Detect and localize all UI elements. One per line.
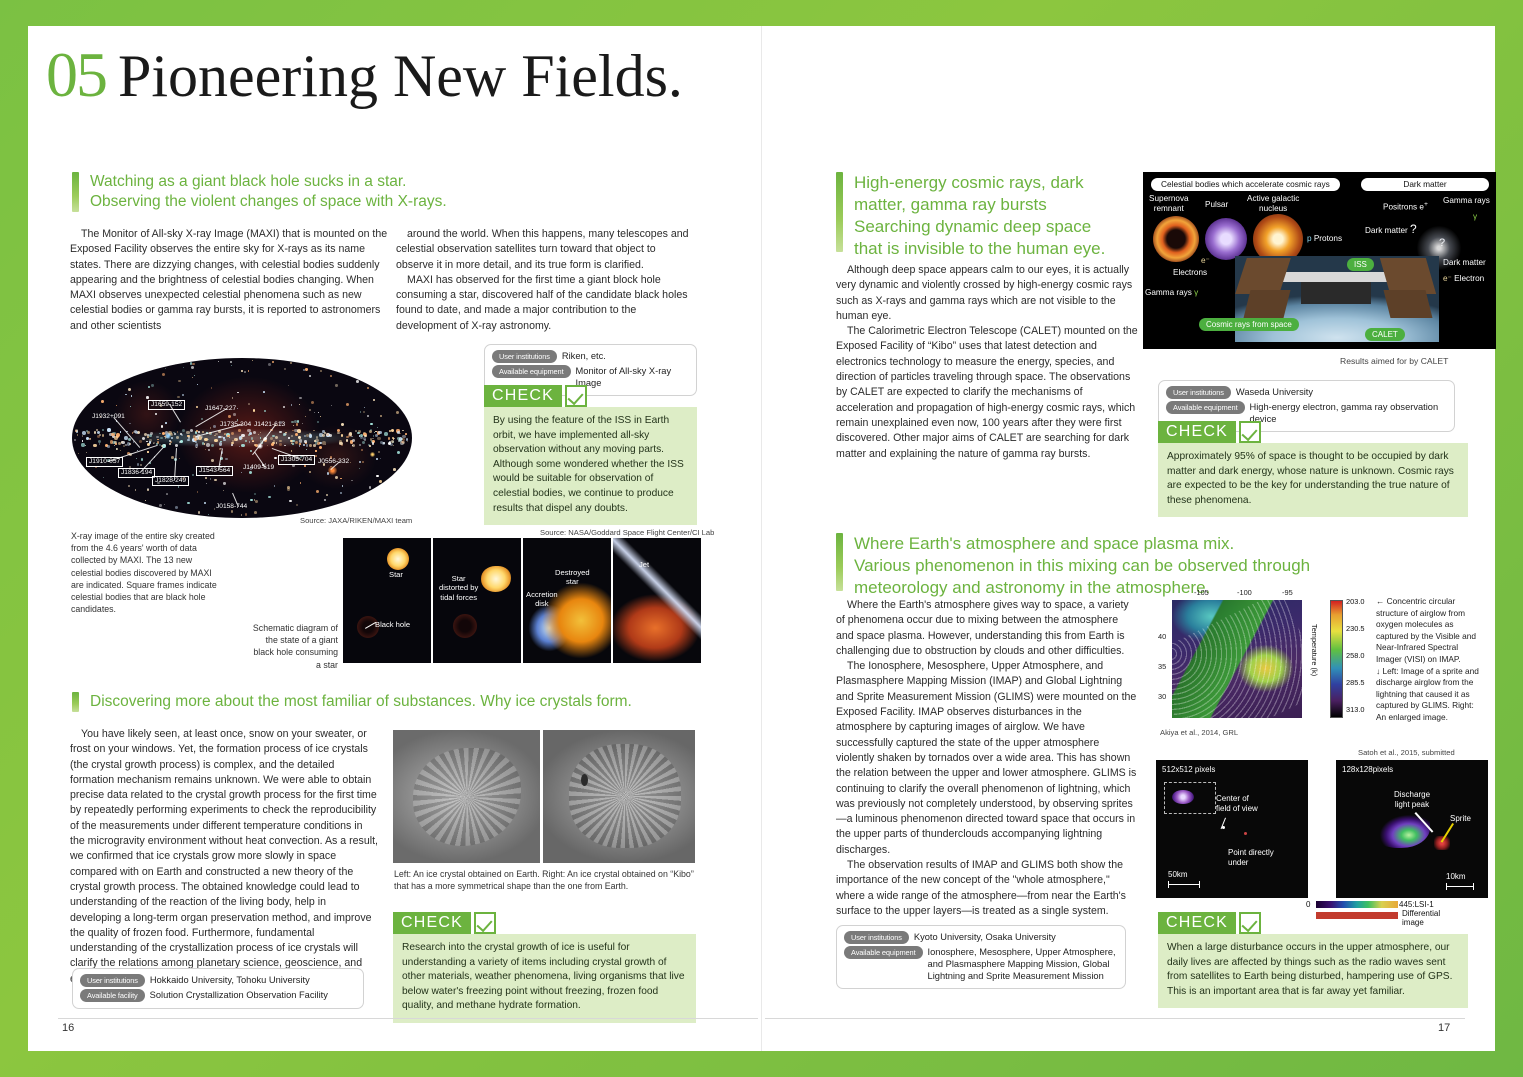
star-point <box>114 436 118 440</box>
label-electron-right: e⁻ Electron <box>1443 274 1484 284</box>
star-point <box>231 432 234 435</box>
star-point <box>363 411 365 413</box>
star-point <box>296 423 298 425</box>
page-title: 05Pioneering New Fields. <box>46 38 683 112</box>
star-point <box>114 445 115 446</box>
star-point <box>370 423 372 425</box>
blackhole-panel-1: Star Black hole <box>343 538 431 663</box>
blackhole-glow-2 <box>453 614 477 638</box>
star-point <box>159 444 161 446</box>
section-heading-maxi: Watching as a giant black hole sucks in … <box>72 172 492 212</box>
star-point <box>296 504 298 506</box>
star-point <box>192 474 194 476</box>
star-point <box>384 432 388 436</box>
star-point <box>191 366 194 369</box>
star-point <box>359 468 360 469</box>
star-point <box>367 415 369 417</box>
star-point <box>211 387 213 389</box>
star-point <box>284 433 287 436</box>
glims-right-panel: 128x128pixels Dischargelight peak Sprite… <box>1336 760 1488 898</box>
star-point <box>378 451 380 453</box>
ice-check-label: CHECK <box>393 912 471 934</box>
info-row-institutions: User institutions Riken, etc. <box>492 350 689 363</box>
ice-body: You have likely seen, at least once, sno… <box>70 727 380 987</box>
star-point <box>350 462 351 463</box>
label-pulsar: Pulsar <box>1205 200 1228 210</box>
star-point <box>248 434 249 435</box>
star-point <box>195 444 198 447</box>
star-point <box>341 423 344 426</box>
section-heading-line1: Watching as a giant black hole sucks in … <box>90 172 447 192</box>
diagram-banner-left: Celestial bodies which accelerate cosmic… <box>1151 178 1340 191</box>
star-point <box>299 439 302 442</box>
star-point <box>211 444 214 447</box>
calet-check-box: CHECK Approximately 95% of space is thou… <box>1158 421 1468 517</box>
star-point <box>159 433 161 435</box>
star-point <box>197 384 198 385</box>
glims-legend-max-value: 445 <box>1399 900 1412 909</box>
star-point <box>331 405 332 406</box>
star-point <box>391 429 394 432</box>
section-heading-ice: Discovering more about the most familiar… <box>72 692 632 712</box>
star-point <box>162 373 165 376</box>
star-point <box>177 396 180 399</box>
star-point <box>157 439 158 440</box>
star-point <box>213 425 216 428</box>
atmosphere-info-box: User institutions Kyoto University, Osak… <box>836 925 1126 989</box>
maxi-caption: X-ray image of the entire sky created fr… <box>71 530 223 615</box>
star-point <box>225 458 227 460</box>
footer-rule-left <box>58 1018 758 1019</box>
ice-paragraph: You have likely seen, at least once, sno… <box>70 727 380 987</box>
star-point <box>316 490 319 493</box>
star-point <box>283 406 285 408</box>
atmosphere-institutions-value: Kyoto University, Osaka University <box>914 931 1056 943</box>
star-point <box>228 415 230 417</box>
pill-iss: ISS <box>1347 258 1374 271</box>
cbar-tick-230: 230.5 <box>1346 624 1365 633</box>
star-point <box>284 445 286 447</box>
calet-check-label: CHECK <box>1158 421 1236 443</box>
check-label: CHECK <box>484 385 562 407</box>
ice-info-box: User institutions Hokkaido University, T… <box>72 968 364 1009</box>
maxi-allsky-image <box>72 358 412 518</box>
star-point <box>346 403 349 406</box>
star-point <box>351 480 352 481</box>
glims-right-title: 128x128pixels <box>1342 765 1393 775</box>
atmosphere-institutions-pill: User institutions <box>844 931 909 944</box>
star-point <box>208 449 210 451</box>
star-point <box>340 478 342 480</box>
calet-figure-caption: Results aimed for by CALET <box>1340 356 1448 366</box>
star-point <box>297 429 301 433</box>
star-point <box>319 446 322 449</box>
star-point <box>272 435 274 437</box>
atmosphere-body: Where the Earth's atmosphere gives way t… <box>836 598 1138 919</box>
star-point <box>356 380 359 383</box>
star-point <box>284 368 287 371</box>
page-gutter <box>761 26 762 1051</box>
star-point <box>206 483 207 484</box>
star-point <box>379 480 382 483</box>
star-point <box>376 475 378 477</box>
star-point <box>306 449 307 450</box>
star-point <box>241 444 244 447</box>
section-accent-bar-ice <box>72 692 79 712</box>
atmosphere-paragraph-3: The observation results of IMAP and GLIM… <box>836 858 1138 919</box>
maxi-check-box: CHECK By using the feature of the ISS in… <box>484 385 697 525</box>
ytick-35: 35 <box>1158 662 1166 671</box>
star-point <box>405 433 407 435</box>
star-point <box>164 504 165 505</box>
star-point <box>272 361 274 363</box>
institutions-value: Riken, etc. <box>562 350 606 362</box>
ice-photo-earth <box>393 730 540 863</box>
star-point <box>197 491 199 493</box>
star-point <box>360 411 361 412</box>
star-point <box>376 458 379 461</box>
glims-lsi-colorbar <box>1316 901 1398 908</box>
star-point <box>206 443 210 447</box>
star-point <box>94 431 97 434</box>
star-point <box>192 363 195 366</box>
star-point <box>329 434 332 437</box>
star-point <box>287 486 290 489</box>
star-point <box>97 435 100 438</box>
blackhole-panel-3: Destroyedstar Accretiondisk <box>523 538 611 663</box>
star-point <box>316 436 318 438</box>
star-point <box>231 444 233 446</box>
section-heading-line2: Observing the violent changes of space w… <box>90 192 447 212</box>
star-point <box>288 385 289 386</box>
maxi-source: Source: JAXA/RIKEN/MAXI team <box>300 516 412 525</box>
star-point <box>82 440 84 442</box>
star-point <box>315 450 316 451</box>
ice-caption: Left: An ice crystal obtained on Earth. … <box>394 868 696 892</box>
star-point <box>320 416 322 418</box>
star-point <box>139 440 142 443</box>
star-point <box>116 405 118 407</box>
star-point <box>219 442 222 445</box>
glims-label-discharge-peak: Dischargelight peak <box>1394 790 1430 810</box>
star-point <box>214 435 215 436</box>
star-point <box>314 412 315 413</box>
star-point <box>402 438 405 441</box>
atmosphere-accent-bar <box>836 533 843 591</box>
calet-body: Although deep space appears calm to our … <box>836 263 1138 462</box>
glims-figure: 512x512 pixels Center offield of view Po… <box>1156 760 1488 910</box>
star-point <box>210 427 211 428</box>
star-point <box>204 502 206 504</box>
star-point <box>309 434 313 438</box>
sky-label: J1543-564 <box>196 466 233 476</box>
star-point <box>268 496 271 499</box>
star-point <box>306 444 308 446</box>
star-point <box>393 468 396 471</box>
star-point <box>107 445 110 448</box>
star-point <box>245 440 247 442</box>
star-point <box>155 413 157 415</box>
star-point <box>137 463 140 466</box>
pill-cosmic-rays: Cosmic rays from space <box>1199 318 1299 331</box>
star-point <box>351 436 353 438</box>
calet-heading-line4: that is invisible to the human eye. <box>854 238 1105 260</box>
star-point <box>116 448 118 450</box>
star-point <box>248 370 250 372</box>
star-point <box>241 514 243 516</box>
star-point <box>297 420 300 423</box>
ice-checkmark-icon <box>474 912 496 934</box>
star-point <box>120 431 122 433</box>
star-point <box>361 449 363 451</box>
calet-check-header: CHECK <box>1158 421 1468 443</box>
star-point <box>320 370 322 372</box>
imap-figure-note: ← Concentric circular structure of airgl… <box>1376 596 1482 724</box>
glims-left-panel: 512x512 pixels Center offield of view Po… <box>1156 760 1308 898</box>
star-point <box>254 511 257 514</box>
star-point <box>311 401 314 404</box>
star-glow <box>387 548 409 570</box>
star-point <box>205 477 207 479</box>
star-point <box>372 442 374 444</box>
star-point <box>135 431 138 434</box>
star-point <box>196 406 198 408</box>
star-point <box>201 436 203 438</box>
star-point <box>187 439 189 441</box>
star-point <box>299 445 300 446</box>
star-point <box>208 439 210 441</box>
chapter-number: 05 <box>46 39 106 110</box>
star-point <box>223 439 225 441</box>
star-point <box>159 504 162 507</box>
star-point <box>295 441 298 444</box>
star-point <box>292 443 294 445</box>
pill-calet: CALET <box>1365 328 1405 341</box>
star-point <box>183 367 184 368</box>
star-point <box>295 433 298 436</box>
star-point <box>198 431 200 433</box>
star-point <box>129 423 131 425</box>
star-point <box>244 371 246 373</box>
star-point <box>309 444 312 447</box>
atmosphere-info-row-equipment: Available equipment Ionosphere, Mesosphe… <box>844 946 1118 982</box>
label-positrons: Positrons e+ <box>1383 200 1428 213</box>
star-point <box>289 500 292 503</box>
star-point <box>211 459 214 462</box>
star-point <box>77 434 78 435</box>
star-point <box>215 433 217 435</box>
star-point <box>250 450 252 452</box>
glims-right-scalebar <box>1446 886 1474 887</box>
star-point <box>93 444 96 447</box>
xtick--100: -100 <box>1237 588 1252 597</box>
star-point <box>169 440 171 442</box>
blackhole-panel-2: Stardistorted bytidal forces <box>433 538 521 663</box>
star-point <box>258 434 260 436</box>
star-point <box>359 444 361 446</box>
ytick-40: 40 <box>1158 632 1166 641</box>
star-point <box>223 490 224 491</box>
star-point <box>182 429 186 433</box>
glims-left-scalebar <box>1168 884 1200 885</box>
star-point <box>141 458 143 460</box>
star-point <box>190 429 193 432</box>
star-point <box>291 435 293 437</box>
sky-label: J0158-744 <box>216 503 247 511</box>
label-electrons: Electrons <box>1173 268 1207 278</box>
star-point <box>237 392 239 394</box>
star-point <box>340 492 342 494</box>
bright-source <box>370 452 375 457</box>
label-gamma-symbol: γ <box>1473 212 1477 222</box>
atmosphere-checkmark-icon <box>1239 912 1261 934</box>
star-point <box>181 434 183 436</box>
star-point <box>85 445 86 446</box>
sky-label: J1659-152 <box>148 400 185 410</box>
star-point <box>355 430 357 432</box>
star-point <box>223 437 224 438</box>
star-point <box>161 425 163 427</box>
star-point <box>214 439 217 442</box>
star-point <box>299 404 301 406</box>
calet-institutions-value: Waseda University <box>1236 386 1313 398</box>
star-point <box>396 411 399 414</box>
star-point <box>179 441 181 443</box>
star-point <box>232 397 234 399</box>
atmosphere-equipment-pill: Available equipment <box>844 946 923 959</box>
star-point <box>367 387 369 389</box>
star-point <box>241 370 243 372</box>
star-point <box>194 375 195 376</box>
star-point <box>369 445 371 447</box>
star-point <box>349 432 353 436</box>
imap-source: Akiya et al., 2014, GRL <box>1160 728 1238 737</box>
star-point <box>230 361 232 363</box>
star-point <box>82 435 83 436</box>
star-point <box>291 450 293 452</box>
panel3-label-destroyed: Destroyedstar <box>555 568 590 587</box>
star-point <box>322 441 326 445</box>
star-point <box>268 363 271 366</box>
colorbar-title: Temperature (k) <box>1310 624 1319 676</box>
panel2-label: Stardistorted bytidal forces <box>439 574 478 602</box>
star-point <box>169 443 171 445</box>
star-point <box>186 431 189 434</box>
star-point <box>335 384 337 386</box>
ice-photo-kibo <box>543 730 695 863</box>
star-point <box>177 431 178 432</box>
ice-check-text: Research into the crystal growth of ice … <box>393 934 696 1023</box>
label-active-galactic-nucleus: Active galacticnucleus <box>1247 194 1299 215</box>
equipment-pill: Available equipment <box>492 365 571 378</box>
atmosphere-paragraph-1: Where the Earth's atmosphere gives way t… <box>836 598 1138 659</box>
calet-heading-line3: Searching dynamic deep space <box>854 216 1105 238</box>
star-point <box>187 502 190 505</box>
maxi-paragraph-2: around the world. When this happens, man… <box>396 227 696 273</box>
diagram-banner-right: Dark matter <box>1361 178 1489 191</box>
temperature-colorbar <box>1330 600 1343 718</box>
star-point <box>342 485 343 486</box>
star-point <box>178 380 180 382</box>
supernova-remnant-image <box>1153 216 1199 262</box>
sky-label: J1932+091 <box>92 413 125 421</box>
star-point <box>249 441 251 443</box>
bright-source <box>165 433 171 439</box>
star-point <box>317 421 319 423</box>
star-point <box>337 429 340 432</box>
star-point <box>309 471 311 473</box>
atmosphere-heading-line1: Where Earth's atmosphere and space plasm… <box>854 533 1310 555</box>
star-point <box>300 482 302 484</box>
sky-label: J1421-613 <box>254 421 285 429</box>
cbar-tick-313: 313.0 <box>1346 705 1365 714</box>
sky-label: J1409-619 <box>243 464 274 472</box>
star-point <box>176 436 179 439</box>
calet-check-text: Approximately 95% of space is thought to… <box>1158 443 1468 517</box>
ice-crystal-photos <box>393 730 695 863</box>
star-point <box>288 437 290 439</box>
footer-rule-right <box>765 1018 1465 1019</box>
glims-label-center-fov: Center offield of view <box>1216 794 1258 814</box>
star-point <box>202 431 204 433</box>
ice-institutions-value: Hokkaido University, Tohoku University <box>150 974 310 986</box>
star-point <box>233 413 236 416</box>
star-point <box>178 486 179 487</box>
star-point <box>394 438 395 439</box>
atmosphere-paragraph-2: The Ionosphere, Mesosphere, Upper Atmosp… <box>836 659 1138 858</box>
imap-heatmap-figure: -105 -100 -95 40 35 30 Temperature (k) 2… <box>1158 588 1488 718</box>
star-point <box>253 431 256 434</box>
blackhole-caption: Schematic diagram of the state of a gian… <box>250 622 338 671</box>
label-protons: p Protons <box>1307 234 1342 244</box>
star-point <box>103 477 104 478</box>
star-point <box>179 458 180 459</box>
star-point <box>89 438 90 439</box>
star-point <box>279 431 282 434</box>
star-point <box>267 445 269 447</box>
star-point <box>224 433 225 434</box>
calet-info-row-institutions: User institutions Waseda University <box>1166 386 1447 399</box>
star-point <box>264 410 266 412</box>
star-point <box>147 451 148 452</box>
atmosphere-check-header: CHECK <box>1158 912 1468 934</box>
glims-right-scale-text: 10km <box>1446 872 1466 882</box>
atmosphere-check-box: CHECK When a large disturbance occurs in… <box>1158 912 1468 1008</box>
star-point <box>194 438 197 441</box>
star-point <box>248 403 250 405</box>
maxi-paragraph-3: MAXI has observed for the first time a g… <box>396 273 696 334</box>
star-point <box>364 407 365 408</box>
calet-paragraph-2: The Calorimetric Electron Telescope (CAL… <box>836 324 1138 462</box>
star-point <box>214 479 216 481</box>
star-point <box>369 486 372 489</box>
star-point <box>390 443 393 446</box>
star-point <box>250 499 252 501</box>
star-point <box>341 434 344 437</box>
label-dark-matter-question: Dark matter ? <box>1365 224 1417 236</box>
star-point <box>254 493 256 495</box>
star-point <box>160 437 162 439</box>
star-point <box>127 442 131 446</box>
star-point <box>378 431 382 435</box>
atmosphere-heading-line2: Various phenomenon in this mixing can be… <box>854 555 1310 577</box>
chapter-title-text: Pioneering New Fields. <box>118 43 683 109</box>
star-point <box>362 441 365 444</box>
star-point <box>241 437 243 439</box>
star-point <box>253 409 256 412</box>
glims-legend-unit: LSI-1 <box>1415 900 1434 909</box>
star-point <box>78 453 79 454</box>
